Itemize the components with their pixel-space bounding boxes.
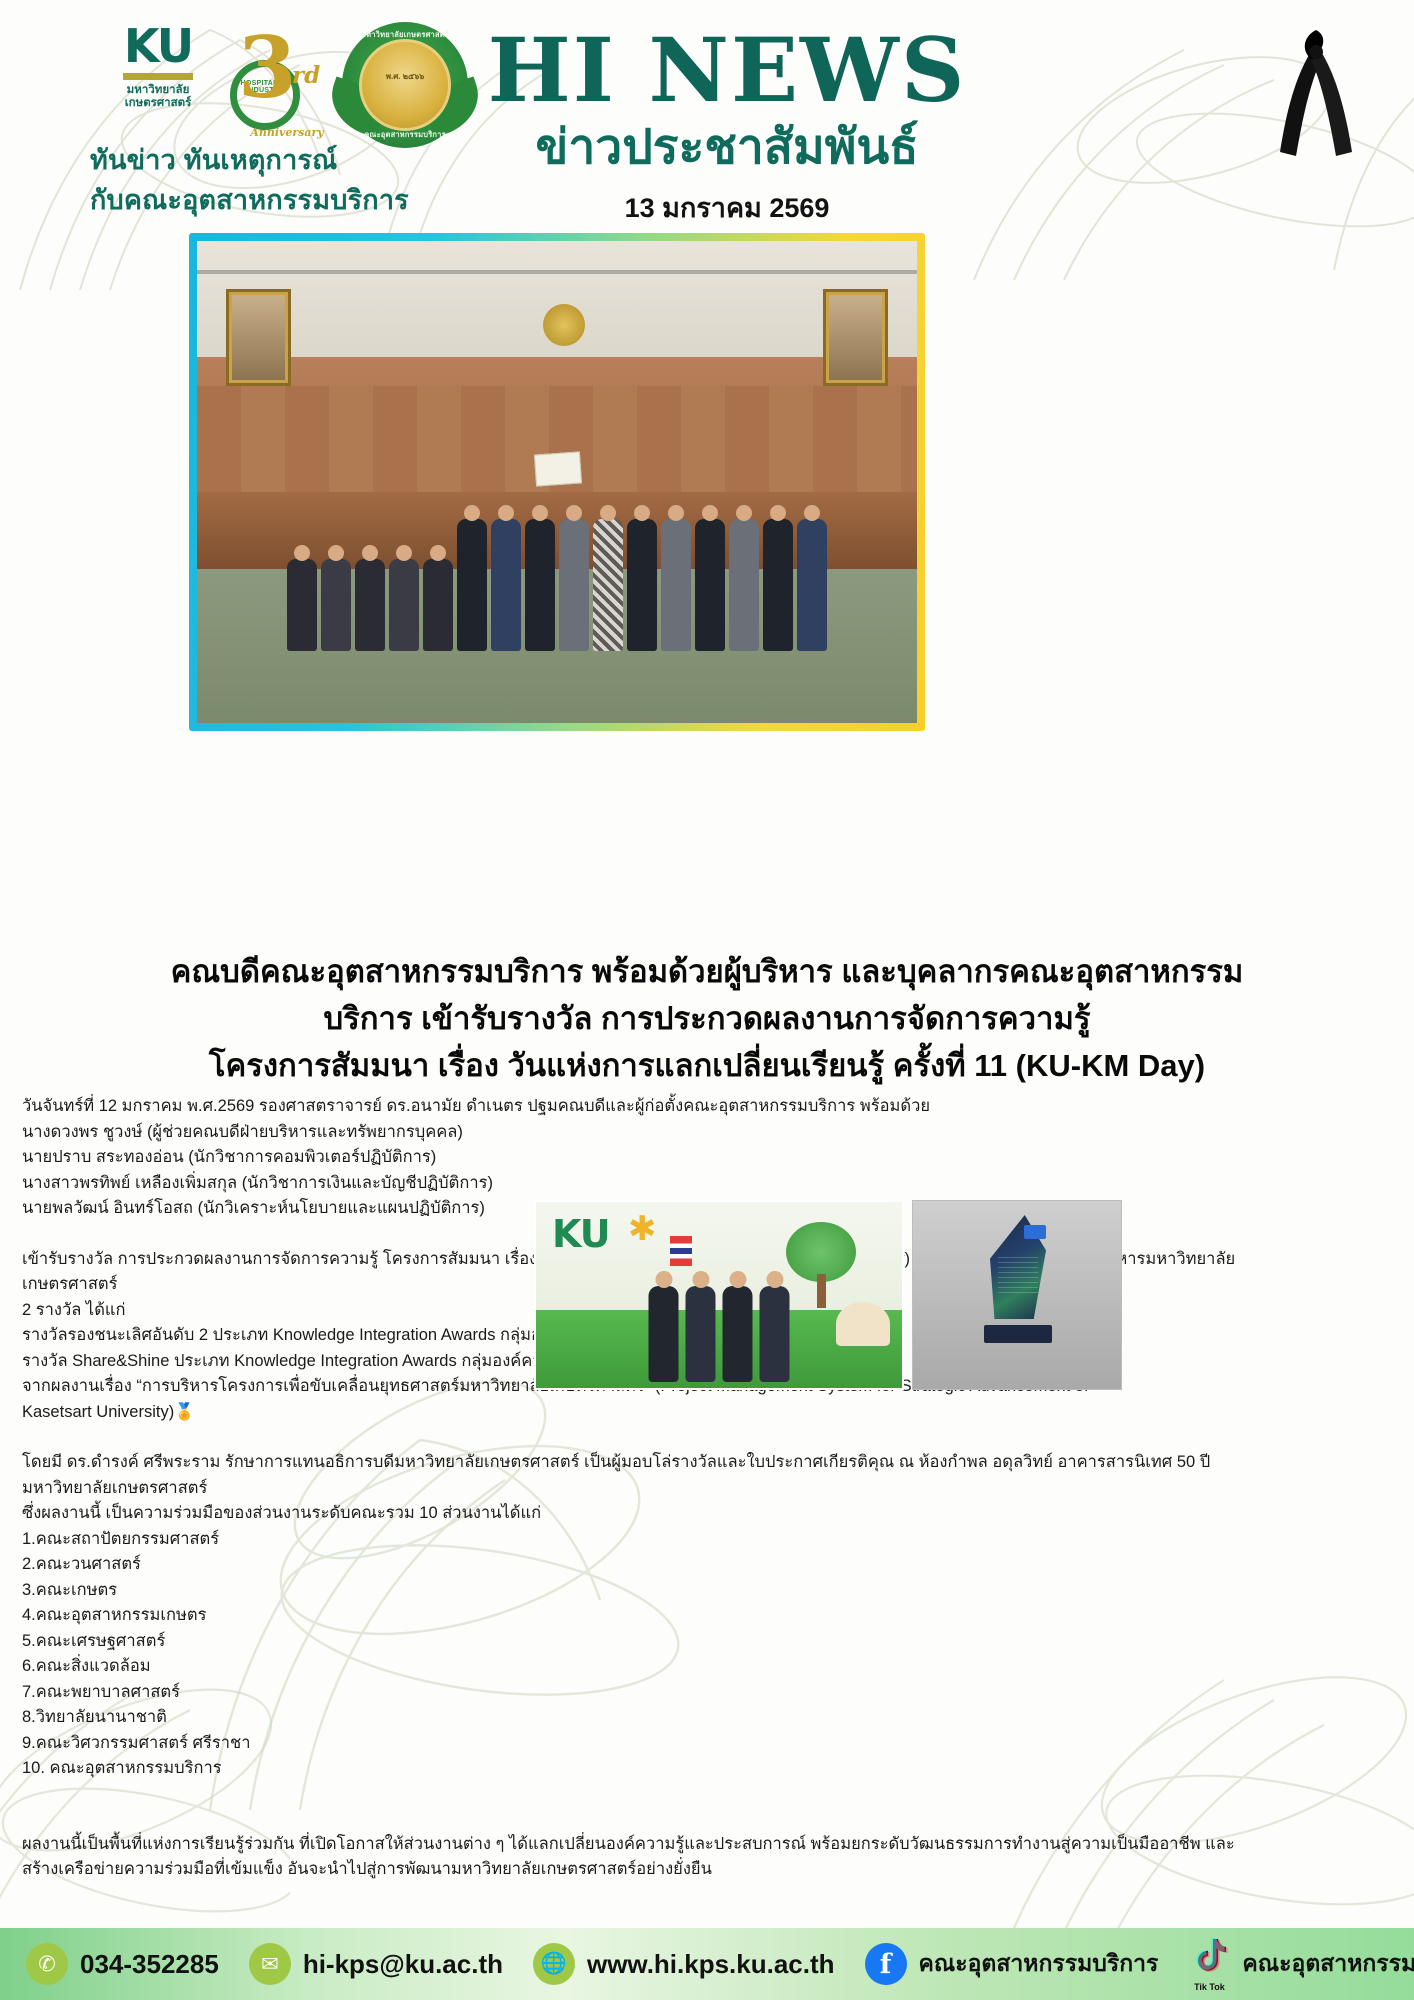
body-work-title-2: Kasetsart University)🏅: [22, 1400, 1392, 1426]
tiktok-icon: Tik Tok: [1188, 1938, 1230, 1990]
footer-tiktok: คณะอุตสาหกรรมบริการ: [1242, 1946, 1414, 1982]
trophy-photo: [912, 1200, 1122, 1390]
anniversary-number: 3: [238, 26, 296, 110]
tagline-line-2: กับคณะอุตสาหกรรมบริการ: [90, 180, 409, 220]
faculty-list-item: 3.คณะเกษตร: [22, 1578, 1032, 1604]
faculty-list-item: 5.คณะเศรษฐศาสตร์: [22, 1629, 1032, 1655]
backdrop-hands-icon: [836, 1302, 890, 1346]
footer-website: www.hi.kps.ku.ac.th: [587, 1949, 835, 1980]
main-photo-frame: [189, 233, 925, 731]
body-intro: วันจันทร์ที่ 12 มกราคม พ.ศ.2569 รองศาสตร…: [22, 1094, 1392, 1120]
photo-track-lighting: [197, 270, 917, 274]
secondary-photo: KU ✱: [534, 1200, 904, 1390]
globe-icon: 🌐: [533, 1943, 575, 1985]
poster-header: KU มหาวิทยาลัย เกษตรศาสตร์ HOSPITALITY I…: [0, 0, 1414, 228]
main-photo: [197, 241, 917, 723]
trophy-engraving: [998, 1257, 1038, 1295]
faculty-list-item: 10. คณะอุตสาหกรรมบริการ: [22, 1756, 1032, 1782]
work-title-text: Kasetsart University): [22, 1403, 174, 1421]
paragraph-spacer: [22, 1425, 1392, 1450]
ku-backdrop-text-icon: KU: [552, 1212, 610, 1256]
faculty-list-item: 1.คณะสถาปัตยกรรมศาสตร์: [22, 1527, 1032, 1553]
photo-portrait-right: [823, 289, 888, 385]
body-presenter-1: โดยมี ดร.ดำรงค์ ศรีพระราม รักษาการแทนอธิ…: [22, 1450, 1392, 1476]
backdrop-tree-icon: [786, 1222, 856, 1282]
body-closing-2: สร้างเครือข่ายความร่วมมือที่เข้มแข็ง อัน…: [22, 1857, 1392, 1883]
footer-website-group[interactable]: 🌐 www.hi.kps.ku.ac.th: [533, 1943, 835, 1985]
body-attendee: นางดวงพร ชูวงษ์ (ผู้ช่วยคณบดีฝ่ายบริหารแ…: [22, 1120, 1392, 1146]
page-title: คณบดีคณะอุตสาหกรรมบริการ พร้อมด้วยผู้บริ…: [46, 948, 1368, 1089]
seal-inner-disc: [359, 39, 451, 131]
headline-line-2: บริการ เข้ารับรางวัล การประกวดผลงานการจั…: [46, 995, 1368, 1042]
seal-inner-text: พ.ศ. ๒๕๖๖: [359, 72, 451, 82]
body-collab-intro: ซึ่งผลงานนี้ เป็นความร่วมมือของส่วนงานระ…: [22, 1501, 1392, 1527]
body-attendee: นางสาวพรทิพย์ เหลืองเพิ่มสกุล (นักวิชากา…: [22, 1171, 1392, 1197]
footer-phone-group[interactable]: ✆ 034-352285: [26, 1943, 219, 1985]
secondary-photo-people: [649, 1286, 790, 1382]
headline-line-3: โครงการสัมมนา เรื่อง วันแห่งการแลกเปลี่ย…: [46, 1042, 1368, 1089]
black-mourning-ribbon-icon: [1270, 26, 1362, 156]
poster-root: KU มหาวิทยาลัย เกษตรศาสตร์ HOSPITALITY I…: [0, 0, 1414, 2000]
faculty-list-item: 2.คณะวนศาสตร์: [22, 1552, 1032, 1578]
footer-email-group[interactable]: ✉ hi-kps@ku.ac.th: [249, 1943, 503, 1985]
award-trophy-icon: [974, 1215, 1060, 1343]
footer-facebook: คณะอุตสาหกรรมบริการ: [919, 1946, 1159, 1982]
ku-backdrop-star-icon: ✱: [628, 1212, 657, 1246]
trophy-base: [984, 1325, 1052, 1343]
paragraph-spacer: [22, 1782, 1392, 1807]
footer-phone: 034-352285: [80, 1949, 219, 1980]
header-tagline: ทันข่าว ทันเหตุการณ์ กับคณะอุตสาหกรรมบริ…: [90, 140, 409, 220]
phone-icon: ✆: [26, 1943, 68, 1985]
faculty-list-item: 4.คณะอุตสาหกรรมเกษตร: [22, 1603, 1032, 1629]
envelope-icon: ✉: [249, 1943, 291, 1985]
facebook-icon: f: [865, 1943, 907, 1985]
seal-arc-top-text: มหาวิทยาลัยเกษตรศาสตร์: [342, 29, 468, 41]
faculty-list-item: 6.คณะสิ่งแวดล้อม: [22, 1654, 1032, 1680]
headline-line-1: คณบดีคณะอุตสาหกรรมบริการ พร้อมด้วยผู้บริ…: [46, 948, 1368, 995]
body-attendee: นายปราบ สระทองอ่อน (นักวิชาการคอมพิวเตอร…: [22, 1145, 1392, 1171]
paragraph-spacer: [22, 1807, 1392, 1832]
ku-university-logo: KU มหาวิทยาลัย เกษตรศาสตร์: [104, 22, 212, 142]
tiktok-label: Tik Tok: [1188, 1982, 1230, 1992]
body-closing-1: ผลงานนี้เป็นพื้นที่แห่งการเรียนรู้ร่วมกั…: [22, 1832, 1392, 1858]
thai-flag-icon: [670, 1236, 692, 1266]
anniversary-ordinal: rd: [292, 62, 320, 89]
medal-icon: 🏅: [174, 1403, 195, 1421]
ku-logo-subtitle-line1: มหาวิทยาลัย: [104, 84, 212, 97]
footer-tiktok-group[interactable]: Tik Tok คณะอุตสาหกรรมบริการ: [1188, 1938, 1414, 1990]
body-presenter-2: มหาวิทยาลัยเกษตรศาสตร์: [22, 1476, 1392, 1502]
photo-certificate: [534, 452, 582, 487]
ku-logo-bar: [123, 73, 193, 80]
tagline-line-1: ทันข่าว ทันเหตุการณ์: [90, 140, 409, 180]
faculty-list-item: 7.คณะพยาบาลศาสตร์: [22, 1680, 1032, 1706]
ku-logo-subtitle-line2: เกษตรศาสตร์: [104, 97, 212, 110]
faculty-list-item: 9.คณะวิศวกรรมศาสตร์ ศรีราชา: [22, 1731, 1032, 1757]
trophy-badge: [1024, 1225, 1046, 1239]
photo-portrait-left: [226, 289, 291, 385]
photo-wall-emblem-icon: [543, 304, 585, 346]
contact-footer: ✆ 034-352285 ✉ hi-kps@ku.ac.th 🌐 www.hi.…: [0, 1928, 1414, 2000]
ku-logo-text: KU: [104, 22, 212, 70]
footer-facebook-group[interactable]: f คณะอุตสาหกรรมบริการ: [865, 1943, 1159, 1985]
anniversary-logo: HOSPITALITY INDUSTRY 3 rd Anniversary: [218, 22, 336, 142]
footer-email: hi-kps@ku.ac.th: [303, 1949, 503, 1980]
logo-row: KU มหาวิทยาลัย เกษตรศาสตร์ HOSPITALITY I…: [104, 22, 468, 148]
faculty-list-item: 8.วิทยาลัยนานาชาติ: [22, 1705, 1032, 1731]
backdrop-tree-trunk: [817, 1274, 826, 1308]
anniversary-label: Anniversary: [240, 126, 334, 139]
faculty-seal-logo: พ.ศ. ๒๕๖๖ มหาวิทยาลัยเกษตรศาสตร์ คณะอุตส…: [342, 22, 468, 148]
